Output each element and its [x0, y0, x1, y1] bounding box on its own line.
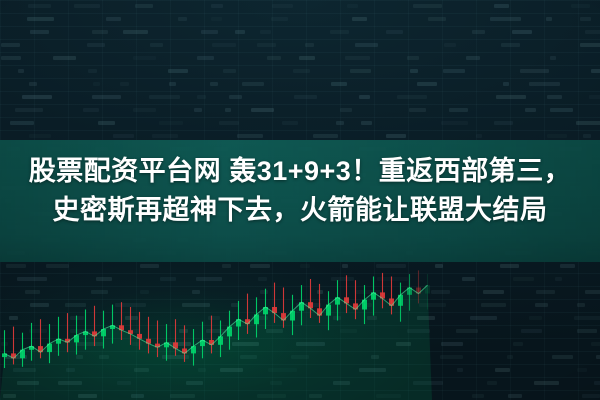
headline-line-2: 史密斯再超神下去，火箭能让联盟大结局	[0, 191, 600, 230]
thumbnail-banner: 股票配资平台网 轰31+9+3！重返西部第三， 史密斯再超神下去，火箭能让联盟大…	[0, 0, 600, 400]
candlestick-chart-svg	[0, 258, 600, 400]
headline-line-1: 股票配资平台网 轰31+9+3！重返西部第三，	[0, 152, 600, 191]
candlestick-chart	[0, 258, 600, 400]
headline: 股票配资平台网 轰31+9+3！重返西部第三， 史密斯再超神下去，火箭能让联盟大…	[0, 152, 600, 230]
